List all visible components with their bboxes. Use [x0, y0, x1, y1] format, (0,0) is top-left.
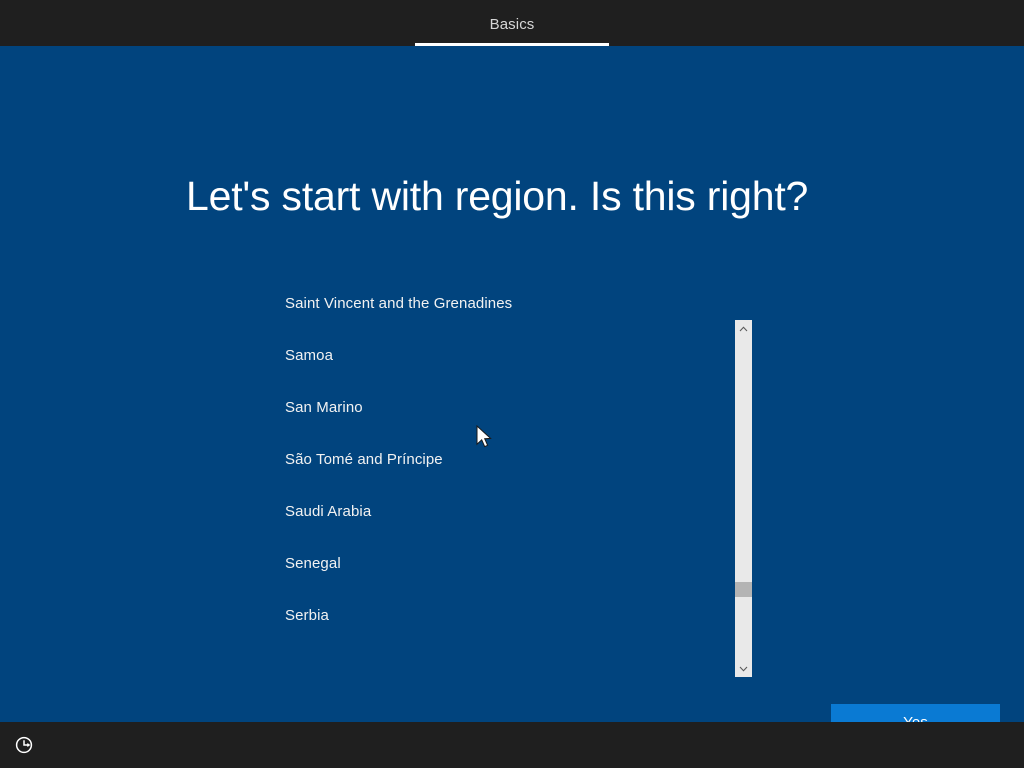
- scrollbar-track[interactable]: [735, 337, 752, 660]
- ease-of-access-button[interactable]: [10, 731, 38, 759]
- page-title: Let's start with region. Is this right?: [186, 172, 808, 221]
- scroll-down-button[interactable]: [735, 660, 752, 677]
- bottom-bar: [0, 722, 1024, 768]
- list-item[interactable]: São Tomé and Príncipe: [285, 434, 725, 486]
- ease-of-access-icon: [14, 735, 34, 755]
- top-bar: Basics: [0, 0, 1024, 46]
- list-item[interactable]: Serbia: [285, 590, 725, 642]
- tab-strip: Basics: [0, 0, 1024, 46]
- list-item[interactable]: Saudi Arabia: [285, 486, 725, 538]
- list-item[interactable]: Samoa: [285, 330, 725, 382]
- oobe-screen: Basics Let's start with region. Is this …: [0, 0, 1024, 768]
- chevron-up-icon: [739, 326, 748, 332]
- tab-basics[interactable]: Basics: [415, 0, 609, 46]
- main-content: Let's start with region. Is this right? …: [0, 46, 1024, 722]
- region-list[interactable]: Saint Vincent and the Grenadines Samoa S…: [285, 278, 725, 602]
- list-item[interactable]: San Marino: [285, 382, 725, 434]
- list-item[interactable]: Saint Vincent and the Grenadines: [285, 278, 725, 330]
- scrollbar-thumb[interactable]: [735, 582, 752, 597]
- list-item[interactable]: Senegal: [285, 538, 725, 590]
- scroll-up-button[interactable]: [735, 320, 752, 337]
- region-list-scrollbar[interactable]: [735, 320, 752, 677]
- chevron-down-icon: [739, 666, 748, 672]
- tab-basics-label: Basics: [490, 15, 535, 32]
